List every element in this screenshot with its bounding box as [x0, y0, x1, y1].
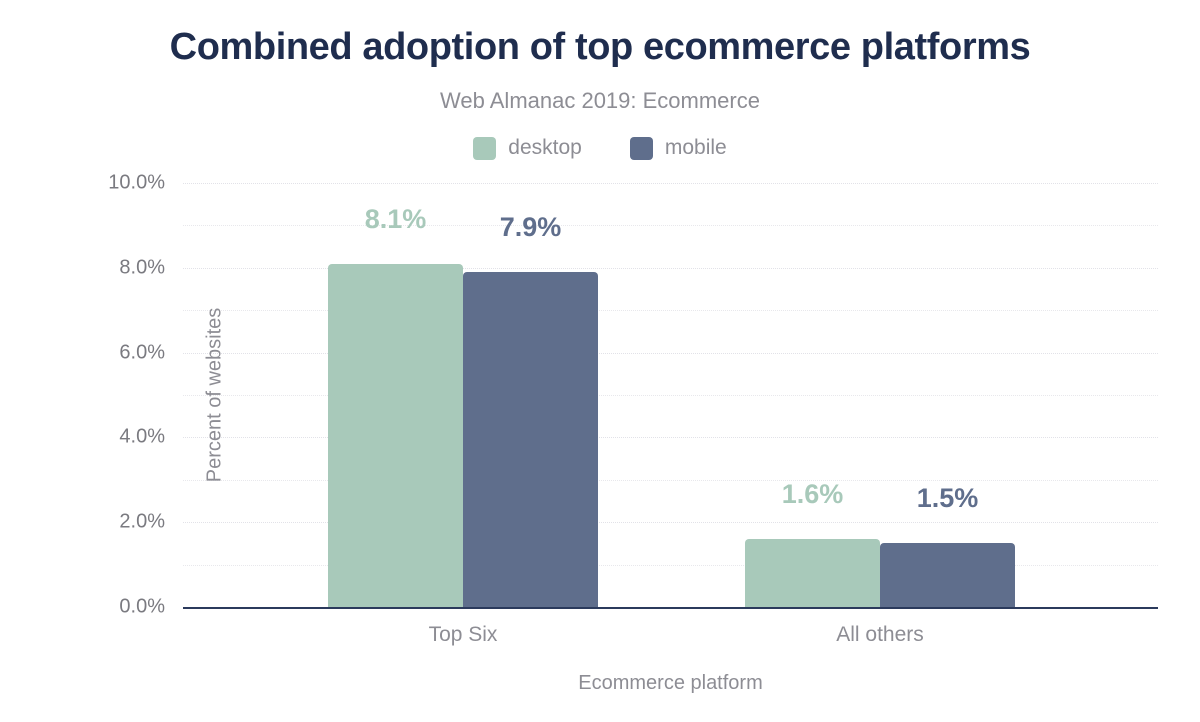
bar-mobile-all-others[interactable]	[880, 543, 1015, 607]
x-axis-tick-label: Top Six	[429, 623, 498, 647]
plot-area: 0.0%2.0%4.0%6.0%8.0%10.0% 8.1%7.9%1.6%1.…	[183, 183, 1158, 607]
legend-item-desktop[interactable]: desktop	[473, 136, 582, 160]
bar-desktop-top-six[interactable]	[328, 264, 463, 607]
y-axis-tick-label: 10.0%	[75, 172, 165, 195]
chart-legend: desktop mobile	[0, 136, 1200, 160]
bar-value-label: 8.1%	[365, 204, 427, 235]
y-axis-tick-label: 8.0%	[75, 256, 165, 279]
y-axis-tick-label: 6.0%	[75, 341, 165, 364]
bar-value-label: 1.5%	[917, 483, 979, 514]
legend-swatch-desktop-icon	[473, 137, 496, 160]
x-axis-tick-label: All others	[836, 623, 924, 647]
y-axis-tick-label: 2.0%	[75, 511, 165, 534]
gridline-major	[183, 183, 1158, 184]
legend-item-mobile[interactable]: mobile	[630, 136, 727, 160]
legend-swatch-mobile-icon	[630, 137, 653, 160]
bar-mobile-top-six[interactable]	[463, 272, 598, 607]
gridline-minor	[183, 225, 1158, 226]
legend-label-desktop: desktop	[508, 136, 582, 160]
bar-chart: Combined adoption of top ecommerce platf…	[0, 0, 1200, 722]
bar-desktop-all-others[interactable]	[745, 539, 880, 607]
y-axis-tick-label: 0.0%	[75, 596, 165, 619]
chart-subtitle: Web Almanac 2019: Ecommerce	[0, 88, 1200, 114]
bar-value-label: 7.9%	[500, 212, 562, 243]
legend-label-mobile: mobile	[665, 136, 727, 160]
x-axis-line	[183, 607, 1158, 609]
bar-value-label: 1.6%	[782, 479, 844, 510]
x-axis-title: Ecommerce platform	[183, 672, 1158, 695]
y-axis-tick-label: 4.0%	[75, 426, 165, 449]
y-axis-title: Percent of websites	[204, 245, 227, 545]
chart-title: Combined adoption of top ecommerce platf…	[0, 26, 1200, 69]
